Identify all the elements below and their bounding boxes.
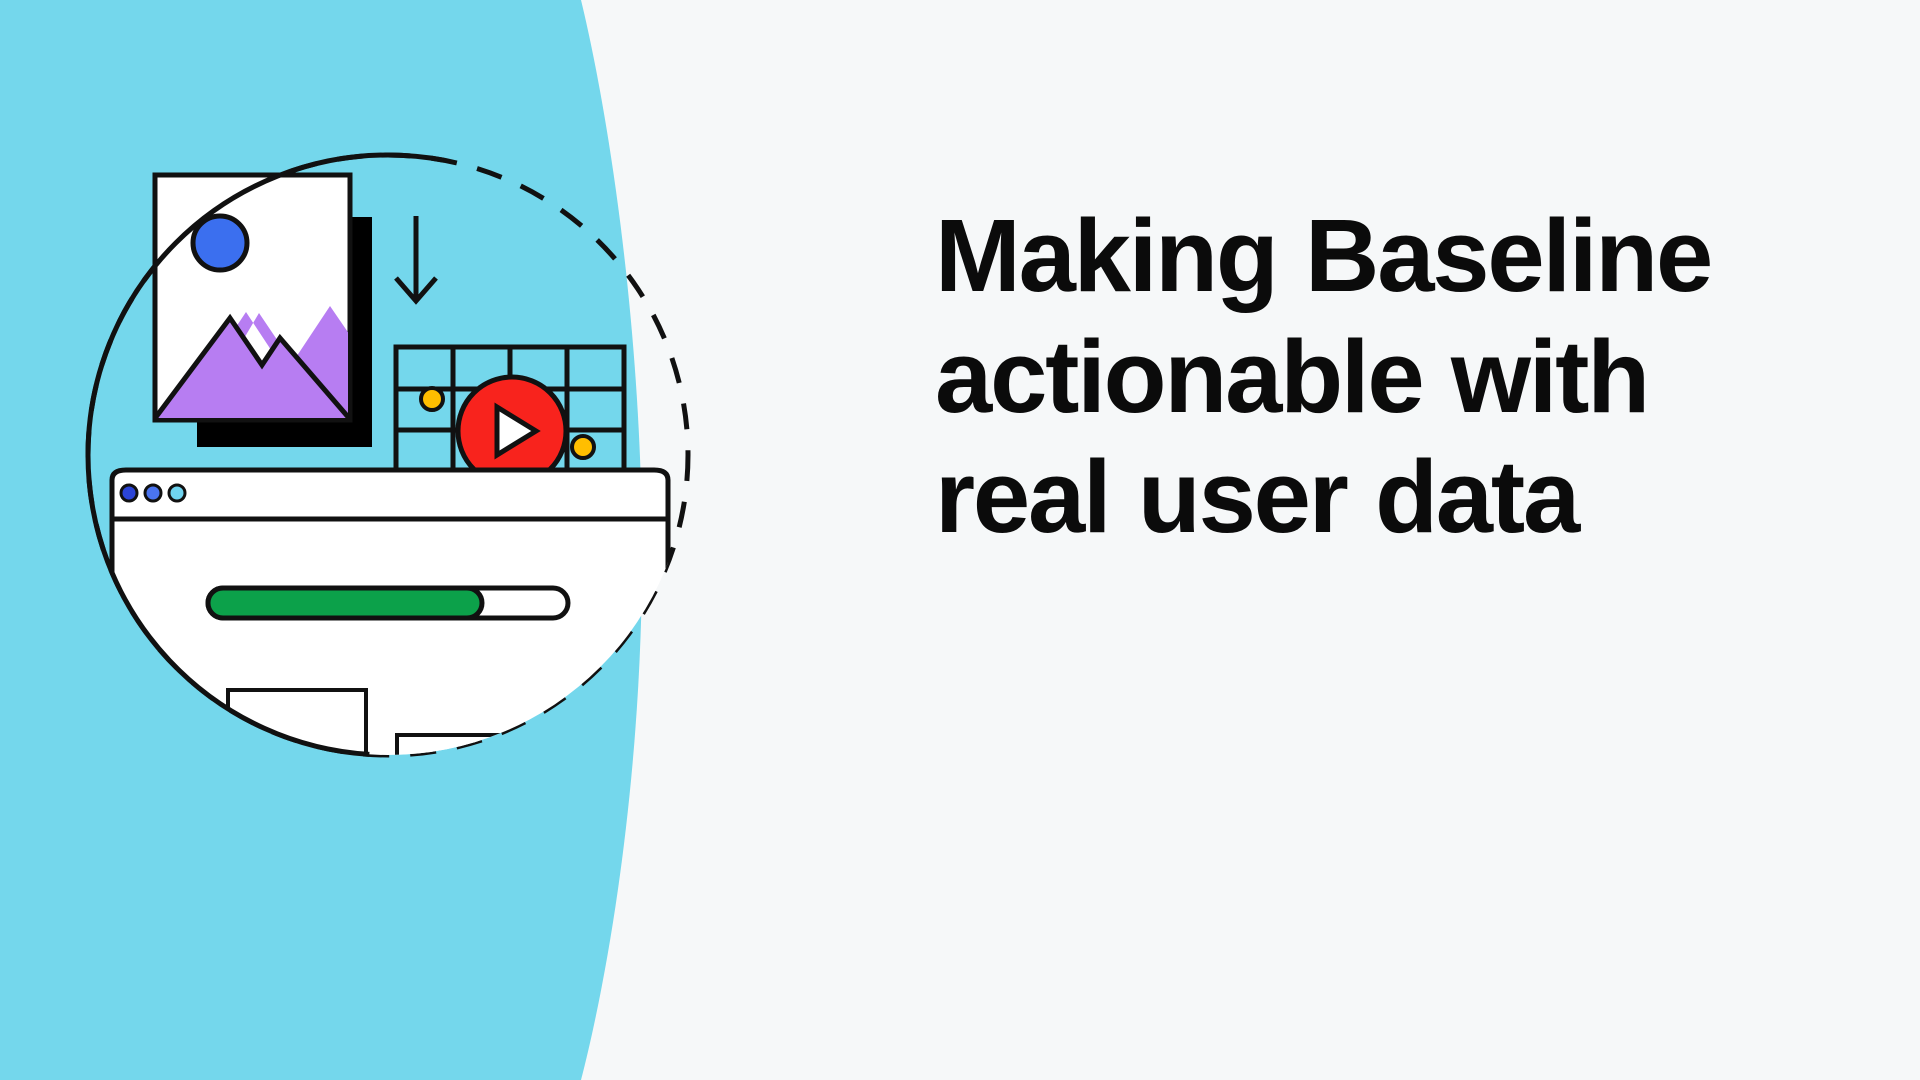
traffic-light-dot-2[interactable]	[145, 485, 161, 501]
page-title: Making Baseline actionable with real use…	[935, 196, 1795, 558]
content-block-right	[397, 735, 547, 830]
traffic-light-dot-1[interactable]	[121, 485, 137, 501]
sun-icon	[193, 216, 247, 270]
download-arrow-icon	[396, 216, 436, 301]
illustration-group	[0, 0, 900, 1080]
browser-window	[112, 470, 668, 830]
grid-dot-2	[572, 436, 594, 458]
grid-dot-1	[421, 388, 443, 410]
browser-window-body	[112, 470, 668, 830]
traffic-light-dot-3[interactable]	[169, 485, 185, 501]
loading-progress-bar	[208, 588, 568, 618]
progress-fill	[208, 588, 482, 618]
layout-grid-with-video	[396, 347, 624, 485]
hero-banner: Making Baseline actionable with real use…	[0, 0, 1920, 1080]
image-placeholder-card	[150, 175, 408, 447]
